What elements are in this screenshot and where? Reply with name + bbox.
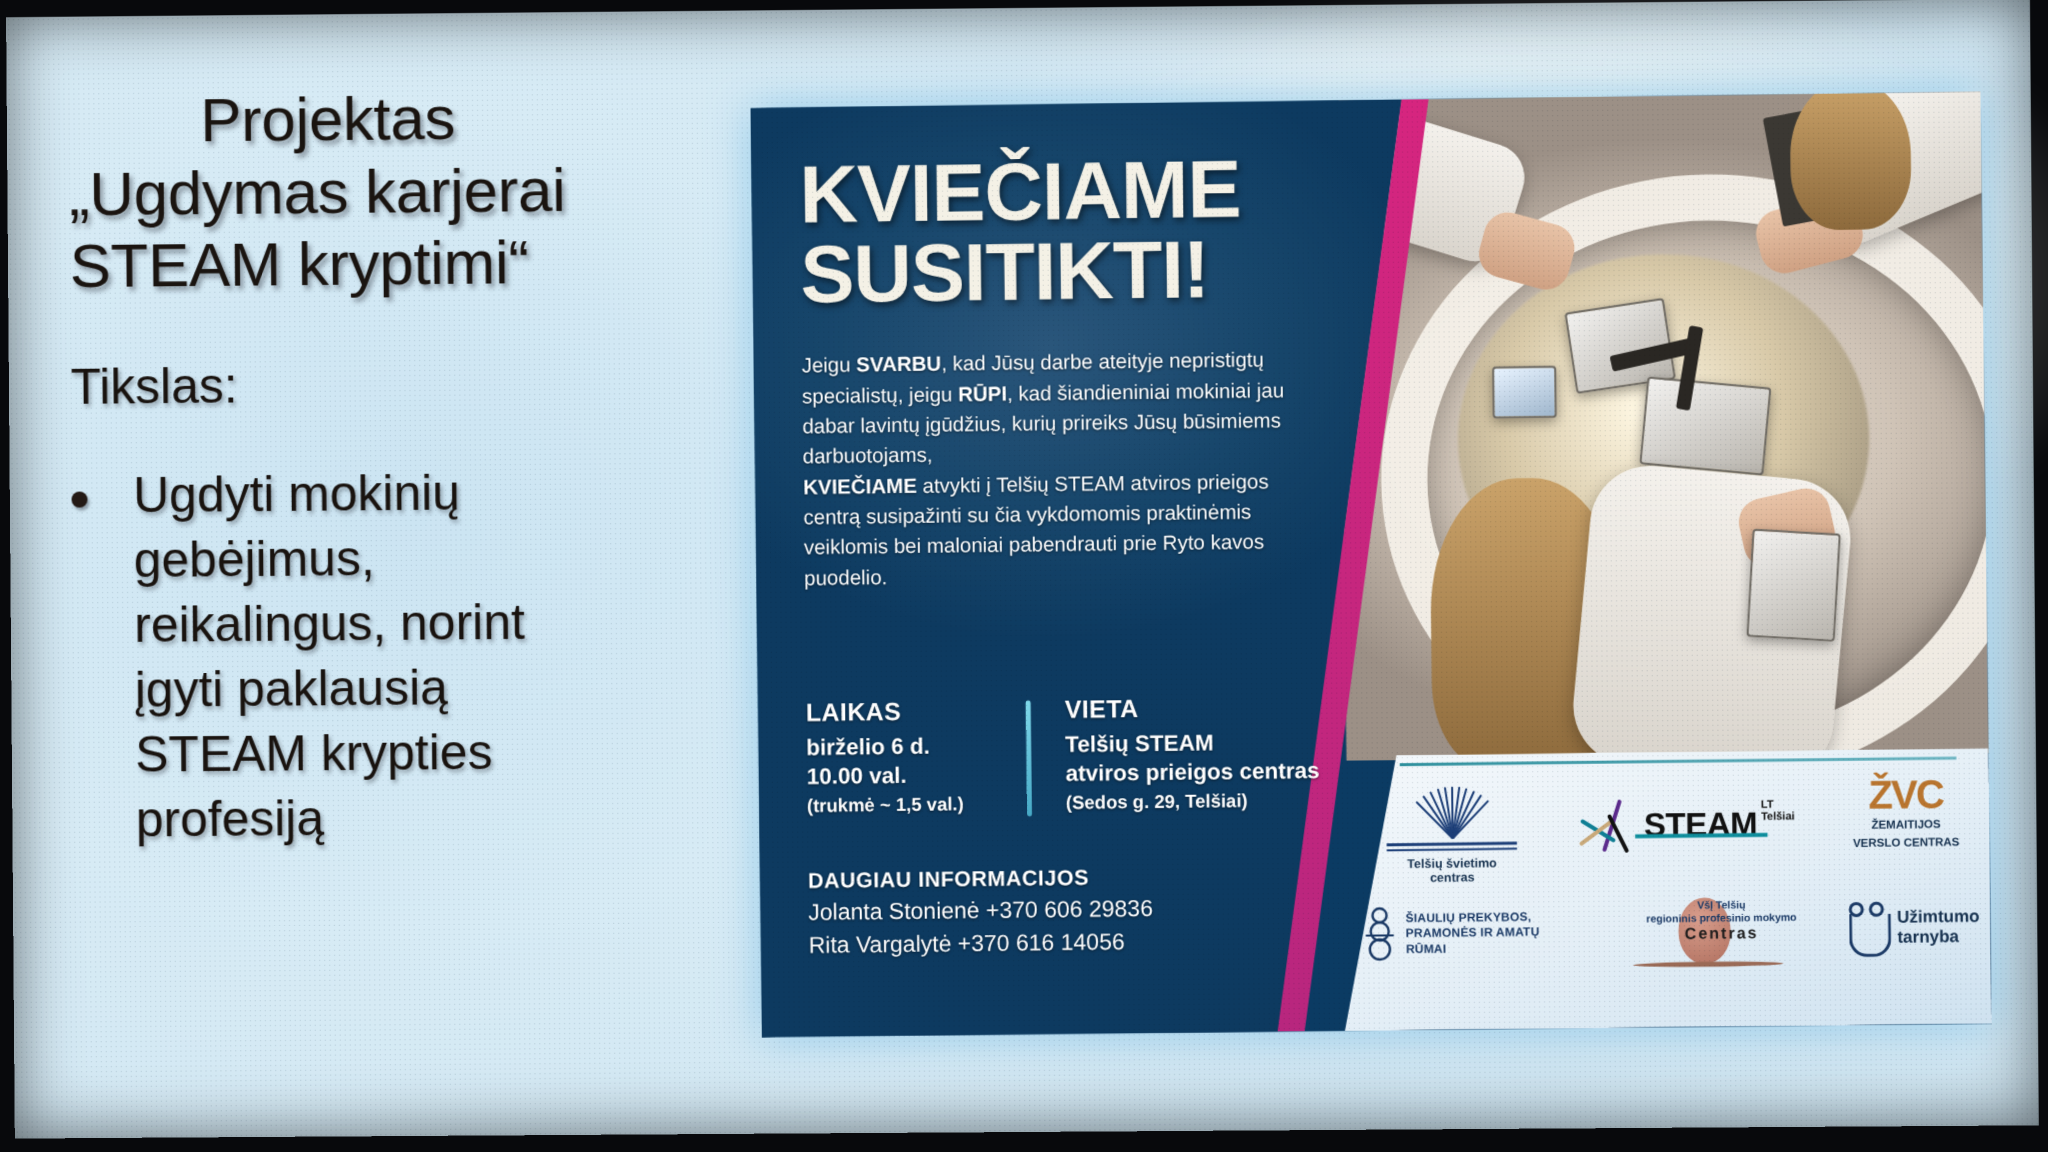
place-line-2: atviros prieigos centras <box>1065 757 1319 789</box>
subheading-tikslas: Tikslas: <box>70 352 709 415</box>
logo-rule <box>1387 847 1517 851</box>
bullet-list: Ugdyti mokinių gebėjimus, reikalingus, n… <box>71 458 712 852</box>
vsi-wordmark: Centras <box>1616 925 1827 945</box>
photo-tablet <box>1492 366 1557 419</box>
event-poster-image: KVIEČIAME SUSITIKTI! Jeigu SVARBU, kad J… <box>751 92 1992 1038</box>
vsi-wave-icon <box>1633 961 1784 968</box>
headline-line-2: SUSITIKTI! <box>800 227 1421 315</box>
bullet-dot-icon <box>71 491 87 507</box>
steam-region-label: LTTelšiai <box>1761 799 1795 824</box>
u-letter-icon <box>1845 900 1890 957</box>
list-item: Ugdyti mokinių gebėjimus, reikalingus, n… <box>71 458 712 852</box>
poster-photograph <box>1339 92 1989 761</box>
steam-lt-telsiai-logo: STEAMLTTelšiai <box>1572 792 1803 857</box>
presentation-slide: Projektas „Ugdymas karjerai STEAM krypti… <box>6 0 2039 1139</box>
uzimtumo-caption: Užimtumo tarnyba <box>1897 907 1980 948</box>
time-hour: 10.00 val. <box>806 760 1026 791</box>
slide-left-column: Projektas „Ugdymas karjerai STEAM krypti… <box>68 81 712 853</box>
uzimtumo-tarnyba-logo: Užimtumo tarnyba <box>1845 898 1992 956</box>
steam-spark-icon <box>1581 794 1644 857</box>
bullet-line-5: STEAM krypties <box>135 719 526 787</box>
time-title: LAIKAS <box>806 696 1026 728</box>
poster-contact-block: DAUGIAU INFORMACIJOS Jolanta Stonienė +3… <box>808 862 1429 961</box>
bullet-line-4: įgyti paklausią <box>135 654 526 722</box>
title-line-3: STEAM kryptimi“ <box>69 226 708 304</box>
poster-info-columns: LAIKAS birželio 6 d. 10.00 val. (trukmė … <box>806 692 1428 819</box>
time-duration-note: (trukmė ~ 1,5 val.) <box>807 791 1027 818</box>
place-line-1: Telšių STEAM <box>1065 728 1319 760</box>
title-line-1: Projektas <box>68 81 707 159</box>
title-line-2: „Ugdymas karjerai <box>69 153 708 231</box>
bullet-text: Ugdyti mokinių gebėjimus, reikalingus, n… <box>133 460 527 852</box>
bullet-line-2: gebėjimus, <box>134 525 525 593</box>
photo-robot-kit <box>1639 376 1771 475</box>
place-title: VIETA <box>1065 693 1319 725</box>
place-address-note: (Sedos g. 29, Telšiai) <box>1066 788 1320 815</box>
logo-rule <box>1387 842 1517 846</box>
contact-person-2: Rita Vargalytė +370 616 14056 <box>809 923 1430 960</box>
logo-panel-divider <box>1400 757 1956 767</box>
poster-text-block: KVIEČIAME SUSITIKTI! Jeigu SVARBU, kad J… <box>799 147 1425 594</box>
photo-controller <box>1746 529 1840 642</box>
bullet-line-6: profesiją <box>136 784 527 852</box>
bullet-line-1: Ugdyti mokinių <box>133 460 524 528</box>
zvc-caption-line-2: VERSLO CENTRAS <box>1836 836 1977 851</box>
time-column: LAIKAS birželio 6 d. 10.00 val. (trukmė … <box>806 696 1027 819</box>
steam-wordmark: STEAM <box>1644 805 1758 844</box>
zemaitijos-verslo-centras-logo: ŽVC ŽEMAITIJOS VERSLO CENTRAS <box>1835 774 1976 851</box>
poster-headline: KVIEČIAME SUSITIKTI! <box>799 147 1421 315</box>
zvc-caption-line-1: ŽEMAITIJOS <box>1836 818 1977 833</box>
page-title: Projektas „Ugdymas karjerai STEAM krypti… <box>68 81 708 304</box>
projected-slide-photo: Projektas „Ugdymas karjerai STEAM krypti… <box>0 0 2048 1152</box>
place-column: VIETA Telšių STEAM atviros prieigos cent… <box>1031 693 1321 816</box>
poster-paragraph: Jeigu SVARBU, kad Jūsų darbe ateityje ne… <box>801 344 1404 594</box>
zvc-wordmark: ŽVC <box>1835 774 1976 816</box>
vsi-telsiu-profesinio-mokymo-centras-logo: VšĮ Telšių regioninis profesinio mokymo … <box>1616 898 1827 945</box>
photo-hair <box>1789 92 1911 231</box>
bullet-line-3: reikalingus, norint <box>134 589 525 657</box>
contact-person-1: Jolanta Stonienė +370 606 29836 <box>808 890 1429 927</box>
poster-logo-panel: Telšių švietimo centras STEAMLTTelšiai Ž <box>1342 748 1992 1031</box>
time-date: birželio 6 d. <box>806 731 1026 762</box>
